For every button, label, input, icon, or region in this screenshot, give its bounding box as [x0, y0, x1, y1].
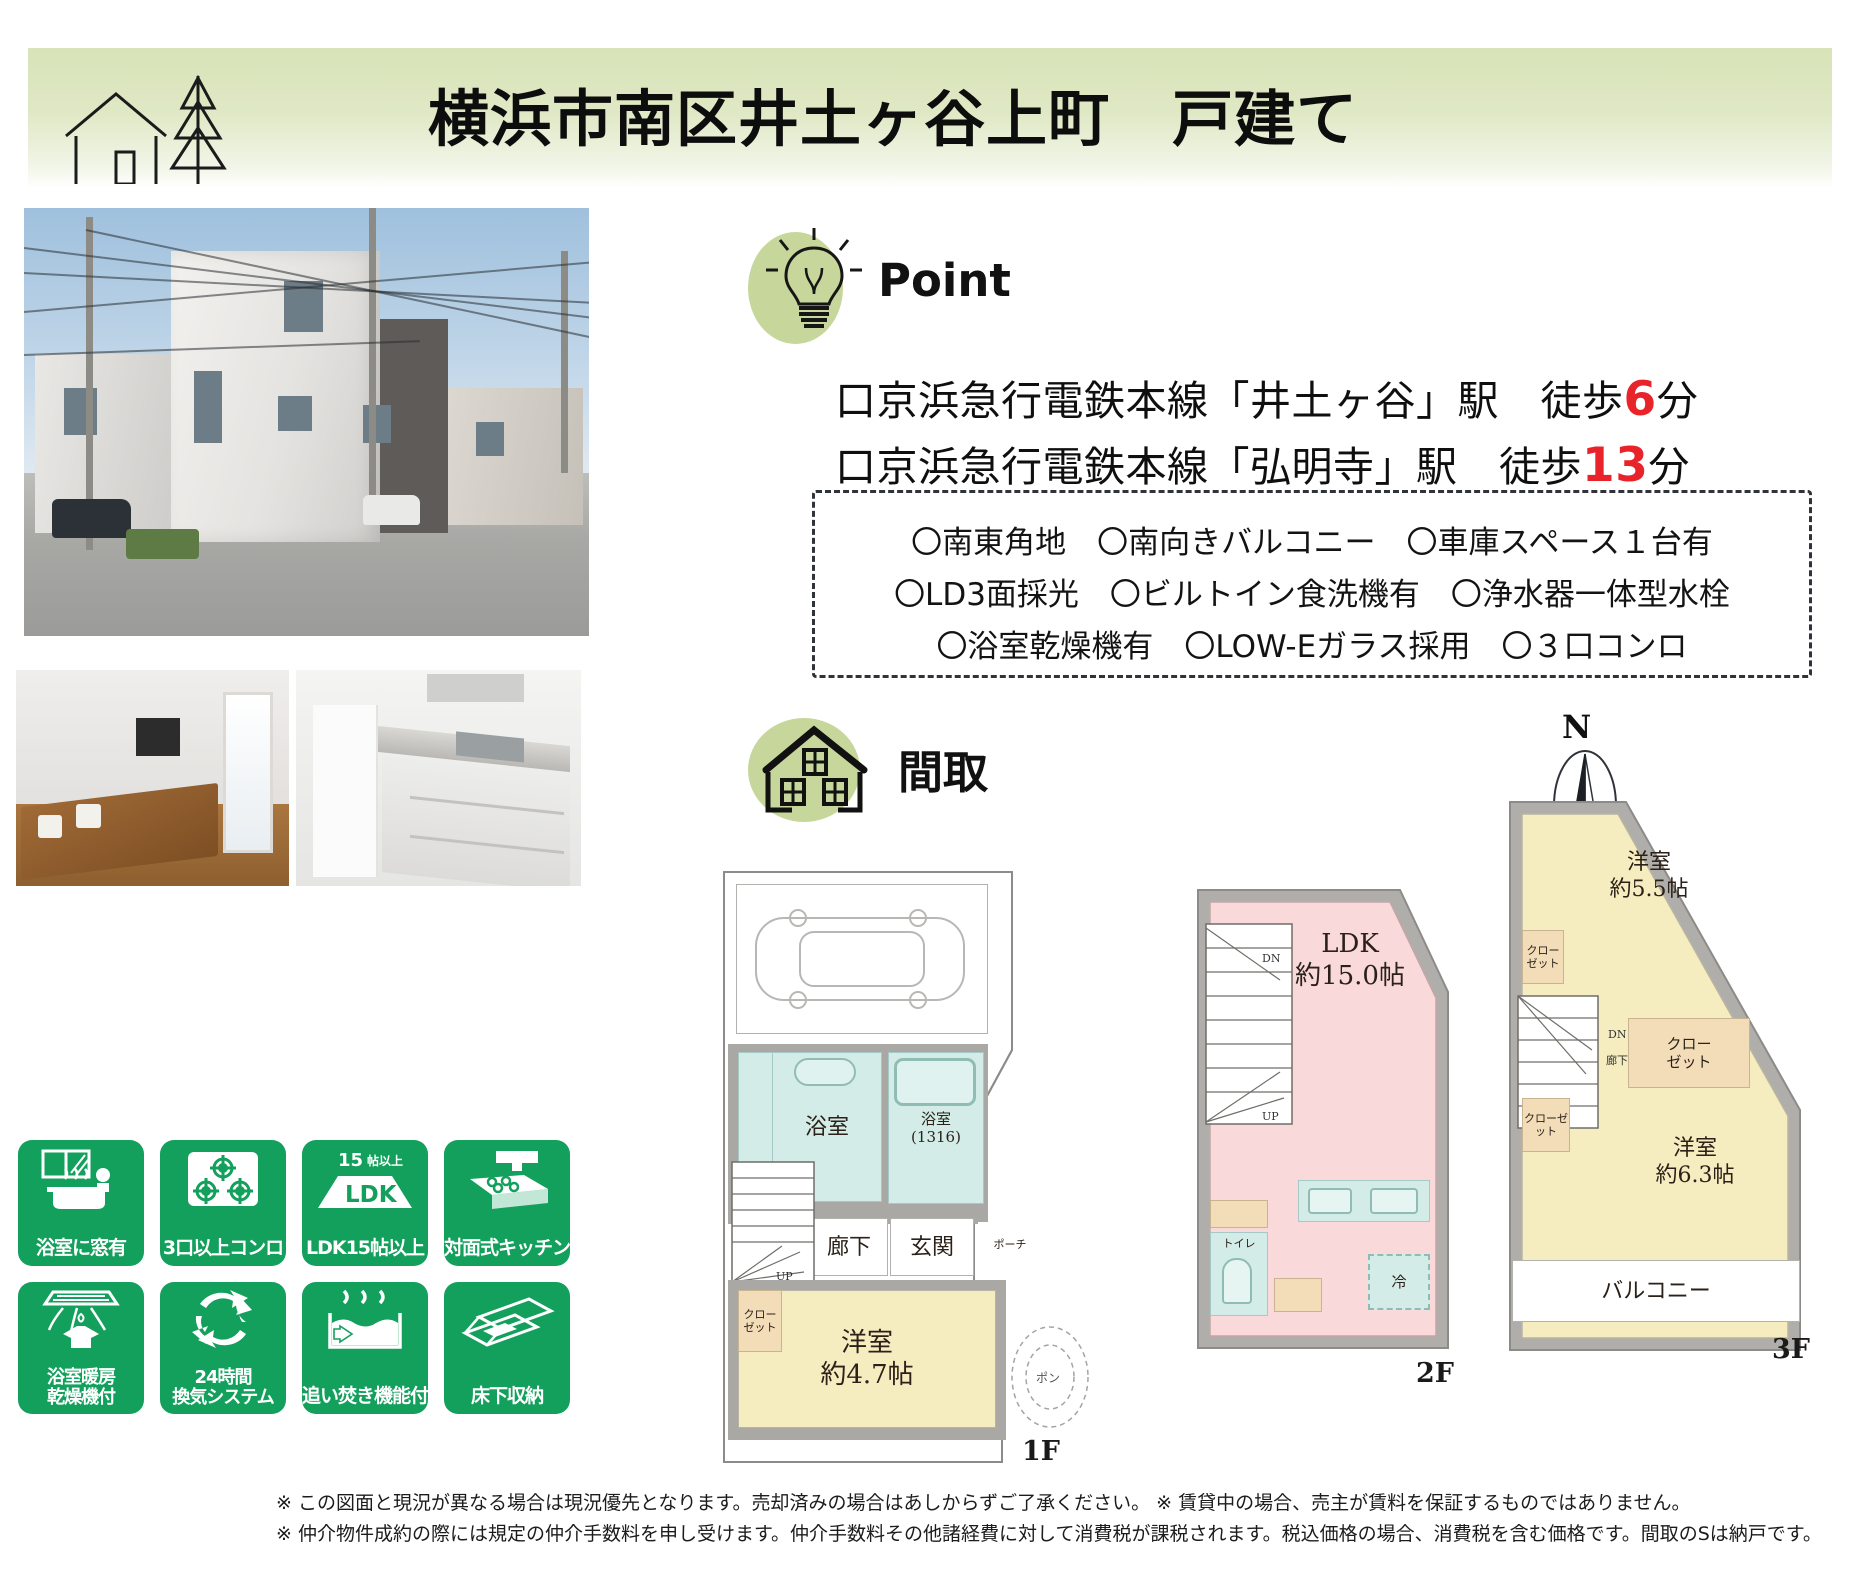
- badge-bath-dryer[interactable]: 浴室暖房 乾燥機付: [18, 1282, 144, 1414]
- floorplan-2f: LDK 約15.0帖 DN UP トイレ 冷 2F: [1190, 880, 1480, 1480]
- badge-label: 24時間 換気システム: [160, 1368, 286, 1408]
- room-bedroom-63-3f: 洋室 約6.3帖: [1620, 1124, 1770, 1200]
- stairs-2f: DN UP: [1204, 922, 1296, 1132]
- room-label: 洋室: [1673, 1135, 1717, 1162]
- hall-2f: [1210, 1200, 1268, 1228]
- badge-reheat-bath[interactable]: 追い焚き機能付: [302, 1282, 428, 1414]
- closet-label: クローゼット: [1523, 1112, 1569, 1138]
- room-area: 約6.3帖: [1656, 1162, 1735, 1189]
- floorplan-section-header: 間取: [748, 718, 1108, 828]
- room-label: 洋室: [1627, 849, 1671, 876]
- room-bedroom-55-3f: 洋室 約5.5帖: [1574, 838, 1724, 914]
- room-label: LDK: [1321, 928, 1379, 960]
- badge-open-kitchen[interactable]: 対面式キッチン: [444, 1140, 570, 1266]
- room-label: 洋室: [841, 1327, 893, 1359]
- feature-row-3: 〇浴室乾燥機有 〇LOW-Eガラス採用 〇３口コンロ: [815, 621, 1809, 666]
- entry-mat-2f: [1274, 1278, 1322, 1312]
- closet-label-line2: ゼット: [1666, 1053, 1711, 1071]
- badge-label: 対面式キッチン: [444, 1238, 570, 1259]
- room-corridor-1f: 廊下: [810, 1218, 888, 1276]
- under-floor-storage-icon: [444, 1290, 570, 1354]
- ldk-15-jo-icon: 15 帖以上 LDK: [302, 1148, 428, 1212]
- stairs-1f: UP: [730, 1160, 816, 1288]
- toilet-fixture-icon: [1222, 1258, 1252, 1304]
- svg-text:LDK: LDK: [345, 1182, 398, 1208]
- feature-list-box: 〇南東角地 〇南向きバルコニー 〇車庫スペース１台有 〇LD3面採光 〇ビルトイ…: [812, 490, 1812, 678]
- stove-icon-2f: [1370, 1188, 1418, 1214]
- point-heading: Point: [878, 254, 1011, 307]
- svg-text:15: 15: [338, 1150, 363, 1171]
- bathroom-window-icon: [18, 1148, 144, 1212]
- room-label: 玄関: [910, 1234, 954, 1261]
- svg-text:帖以上: 帖以上: [367, 1153, 403, 1168]
- feature-badge-grid: 浴室に窓有 3口以上コンロ 15 帖以上: [18, 1140, 588, 1420]
- kitchen-photo: [296, 670, 581, 886]
- badge-under-floor-storage[interactable]: 床下収納: [444, 1282, 570, 1414]
- badge-label-line2: 乾燥機付: [18, 1388, 144, 1408]
- badge-label: 床下収納: [444, 1386, 570, 1407]
- footer-disclaimer: ※ この図面と現況が異なる場合は現況優先となります。売却済みの場合はあしからずご…: [276, 1488, 1836, 1550]
- room-label: バルコニー: [1601, 1278, 1711, 1305]
- header-banner: 横浜市南区井土ヶ谷上町 戸建て: [28, 48, 1832, 188]
- floor-label-2f: 2F: [1416, 1358, 1454, 1389]
- closet-label: クローゼット: [739, 1308, 781, 1334]
- badge-label: 浴室暖房 乾燥機付: [18, 1368, 144, 1408]
- reheat-bath-icon: [302, 1290, 428, 1354]
- room-label: 浴室: [805, 1114, 849, 1141]
- room-area: 約5.5帖: [1610, 876, 1689, 903]
- room-label: トイレ: [1223, 1233, 1256, 1250]
- stair-direction-up-2f: UP: [1262, 1110, 1279, 1123]
- closet-3f-top: クローゼット: [1522, 930, 1564, 984]
- room-label: ポーチ: [994, 1238, 1027, 1251]
- stair-direction-dn-3f: DN: [1608, 1028, 1626, 1041]
- station-2-suffix: 分: [1648, 443, 1690, 491]
- ventilation-24h-icon: [160, 1290, 286, 1348]
- floor-label-3f: 3F: [1772, 1334, 1810, 1365]
- bathtub-icon: [894, 1058, 976, 1106]
- feature-row-2: 〇LD3面採光 〇ビルトイン食洗機有 〇浄水器一体型水栓: [815, 569, 1809, 614]
- room-area: (1316): [911, 1128, 961, 1146]
- footer-line-1: ※ この図面と現況が異なる場合は現況優先となります。売却済みの場合はあしからずご…: [276, 1488, 1836, 1519]
- lightbulb-icon: [762, 226, 872, 346]
- badge-bathroom-window[interactable]: 浴室に窓有: [18, 1140, 144, 1266]
- room-entrance-1f: 玄関: [890, 1218, 974, 1276]
- room-label: 廊下: [827, 1234, 871, 1261]
- room-label: 冷: [1391, 1273, 1406, 1291]
- badge-three-burner-stove[interactable]: 3口以上コンロ: [160, 1140, 286, 1266]
- stair-direction-dn-2f: DN: [1262, 952, 1281, 965]
- station-1-suffix: 分: [1657, 377, 1699, 425]
- badge-label-line1: 浴室暖房: [18, 1368, 144, 1388]
- room-balcony-3f: バルコニー: [1512, 1260, 1800, 1322]
- room-area: 約15.0帖: [1295, 960, 1405, 992]
- badge-ldk-15jo[interactable]: 15 帖以上 LDK LDK15帖以上: [302, 1140, 428, 1266]
- fridge-space-2f: 冷: [1368, 1254, 1430, 1310]
- station-line-1: 口京浜急行電鉄本線「井土ヶ谷」駅 徒歩6分: [835, 367, 1698, 427]
- station-1-text: 口京浜急行電鉄本線「井土ヶ谷」駅 徒歩: [835, 377, 1624, 425]
- point-section-header: Point: [748, 232, 1148, 340]
- car-outline-icon: [746, 900, 976, 1020]
- station-1-minutes: 6: [1624, 372, 1657, 427]
- exterior-photo: [24, 208, 589, 636]
- house-icon: [756, 722, 876, 822]
- compass-north-label: N: [1562, 708, 1591, 746]
- badge-24h-ventilation[interactable]: 24時間 換気システム: [160, 1282, 286, 1414]
- room-corridor-3f: 廊下: [1606, 1054, 1628, 1067]
- svg-text:ポン: ポン: [1036, 1371, 1060, 1385]
- open-kitchen-icon: [444, 1148, 570, 1212]
- station-line-2: 口京浜急行電鉄本線「弘明寺」駅 徒歩13分: [835, 433, 1690, 493]
- closet-label-line1: クロー: [1666, 1035, 1711, 1053]
- floorplan-1f: 洗 浴室 浴室 (1316) 廊下 玄関 ポーチ UP 洋室 約4.7帖 クロー…: [712, 862, 1132, 1482]
- pump-marker-1f: ポン: [1008, 1322, 1092, 1432]
- footer-line-2: ※ 仲介物件成約の際には規定の仲介手数料を申し受けます。仲介手数料その他諸経費に…: [276, 1519, 1836, 1550]
- closet-3f-main: クロー ゼット: [1628, 1018, 1750, 1088]
- room-label: 浴室: [921, 1110, 951, 1128]
- floorplan-3f: 洋室 約5.5帖 クローゼット DN 廊下 クロー ゼット クローゼット 洋室 …: [1500, 790, 1830, 1450]
- room-area: 約4.7帖: [820, 1359, 913, 1391]
- badge-label: 3口以上コンロ: [160, 1238, 286, 1259]
- bath-dryer-icon: [18, 1290, 144, 1348]
- badge-label: 追い焚き機能付: [302, 1386, 428, 1407]
- badge-label-line1: 24時間: [160, 1368, 286, 1388]
- page-title: 横浜市南区井土ヶ谷上町 戸建て: [428, 70, 1728, 170]
- closet-label: クローゼット: [1523, 944, 1563, 970]
- house-and-tree-outline-icon: [58, 66, 248, 184]
- kitchen-sink-icon: [1308, 1188, 1352, 1214]
- closet-1f: クローゼット: [738, 1290, 782, 1352]
- room-ldk-2f: LDK 約15.0帖: [1280, 920, 1420, 1000]
- sink-icon: [794, 1058, 856, 1086]
- room-porch-1f: ポーチ: [978, 1222, 1042, 1266]
- badge-label: 浴室に窓有: [18, 1238, 144, 1259]
- floor-label-1f: 1F: [1022, 1436, 1060, 1467]
- station-2-minutes: 13: [1582, 438, 1648, 493]
- badge-label: LDK15帖以上: [302, 1238, 428, 1259]
- badge-label-line2: 換気システム: [160, 1388, 286, 1408]
- dining-room-photo: [16, 670, 289, 886]
- closet-3f-lower: クローゼット: [1522, 1098, 1570, 1152]
- three-burner-stove-icon: [160, 1148, 286, 1212]
- madori-heading: 間取: [898, 736, 988, 801]
- station-2-text: 口京浜急行電鉄本線「弘明寺」駅 徒歩: [835, 443, 1582, 491]
- feature-row-1: 〇南東角地 〇南向きバルコニー 〇車庫スペース１台有: [815, 517, 1809, 562]
